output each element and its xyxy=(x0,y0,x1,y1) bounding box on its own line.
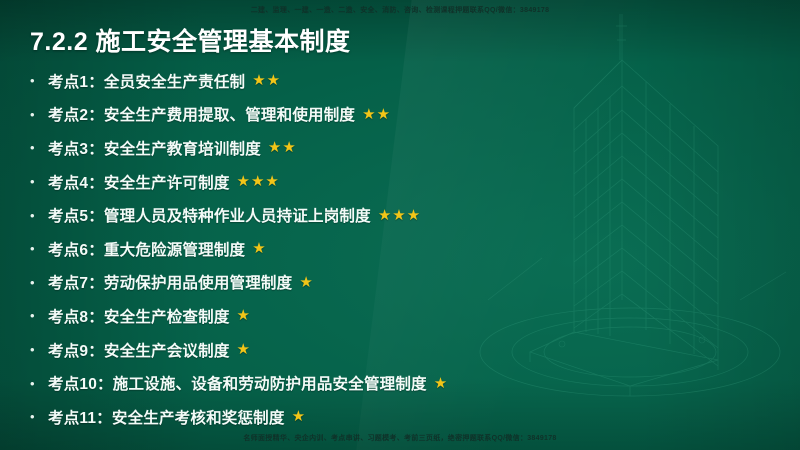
bullet-icon: • xyxy=(26,410,48,423)
bullet-icon: • xyxy=(26,377,48,390)
bullet-icon: • xyxy=(26,141,48,154)
list-item-label: 考点1：全员安全生产责任制 xyxy=(48,70,245,92)
list-item-label: 考点2：安全生产费用提取、管理和使用制度 xyxy=(48,103,355,125)
list-item[interactable]: • 考点10：施工设施、设备和劳动防护用品安全管理制度 ★ xyxy=(26,366,784,400)
bullet-icon: • xyxy=(26,276,48,289)
list-item[interactable]: • 考点1：全员安全生产责任制 ★★ xyxy=(26,64,784,98)
list-item-label: 考点11：安全生产考核和奖惩制度 xyxy=(48,406,285,428)
bullet-icon: • xyxy=(26,309,48,322)
list-item-label: 考点10：施工设施、设备和劳动防护用品安全管理制度 xyxy=(48,372,427,394)
list-item[interactable]: • 考点9：安全生产会议制度 ★ xyxy=(26,333,784,367)
watermark-top: 二建、监理、一建、一造、二造、安全、消防、咨询、检测课程押题联系QQ/微信：38… xyxy=(0,5,800,15)
presentation-slide: 二建、监理、一建、一造、二造、安全、消防、咨询、检测课程押题联系QQ/微信：38… xyxy=(0,0,800,450)
list-item[interactable]: • 考点6：重大危险源管理制度 ★ xyxy=(26,232,784,266)
list-item[interactable]: • 考点7：劳动保护用品使用管理制度 ★ xyxy=(26,266,784,300)
list-item-label: 考点3：安全生产教育培训制度 xyxy=(48,137,261,159)
star-rating: ★★★ xyxy=(237,174,280,189)
list-item[interactable]: • 考点5：管理人员及特种作业人员持证上岗制度 ★★★ xyxy=(26,198,784,232)
bullet-icon: • xyxy=(26,242,48,255)
key-point-list: • 考点1：全员安全生产责任制 ★★ • 考点2：安全生产费用提取、管理和使用制… xyxy=(26,64,784,434)
watermark-bottom: 名师面授精华、央企内训、考点串讲、习题模考、考前三页纸，绝密押题联系QQ/微信：… xyxy=(0,433,800,443)
list-item[interactable]: • 考点11：安全生产考核和奖惩制度 ★ xyxy=(26,400,784,434)
bullet-icon: • xyxy=(26,74,48,87)
star-rating: ★ xyxy=(292,409,306,424)
star-rating: ★★ xyxy=(362,107,391,122)
list-item[interactable]: • 考点3：安全生产教育培训制度 ★★ xyxy=(26,131,784,165)
star-rating: ★ xyxy=(237,342,251,357)
bullet-icon: • xyxy=(26,209,48,222)
list-item[interactable]: • 考点8：安全生产检查制度 ★ xyxy=(26,299,784,333)
bullet-icon: • xyxy=(26,108,48,121)
list-item-label: 考点5：管理人员及特种作业人员持证上岗制度 xyxy=(48,204,371,226)
list-item-label: 考点8：安全生产检查制度 xyxy=(48,305,230,327)
star-rating: ★ xyxy=(299,275,313,290)
bullet-icon: • xyxy=(26,343,48,356)
star-rating: ★ xyxy=(237,308,251,323)
list-item[interactable]: • 考点2：安全生产费用提取、管理和使用制度 ★★ xyxy=(26,98,784,132)
list-item-label: 考点4：安全生产许可制度 xyxy=(48,171,230,193)
list-item[interactable]: • 考点4：安全生产许可制度 ★★★ xyxy=(26,165,784,199)
list-item-label: 考点9：安全生产会议制度 xyxy=(48,339,230,361)
star-rating: ★★ xyxy=(268,140,297,155)
star-rating: ★ xyxy=(252,241,266,256)
star-rating: ★ xyxy=(434,376,448,391)
page-title: 7.2.2 施工安全管理基本制度 xyxy=(30,22,351,58)
bullet-icon: • xyxy=(26,175,48,188)
list-item-label: 考点6：重大危险源管理制度 xyxy=(48,238,245,260)
star-rating: ★★★ xyxy=(378,208,421,223)
list-item-label: 考点7：劳动保护用品使用管理制度 xyxy=(48,271,292,293)
star-rating: ★★ xyxy=(252,73,281,88)
